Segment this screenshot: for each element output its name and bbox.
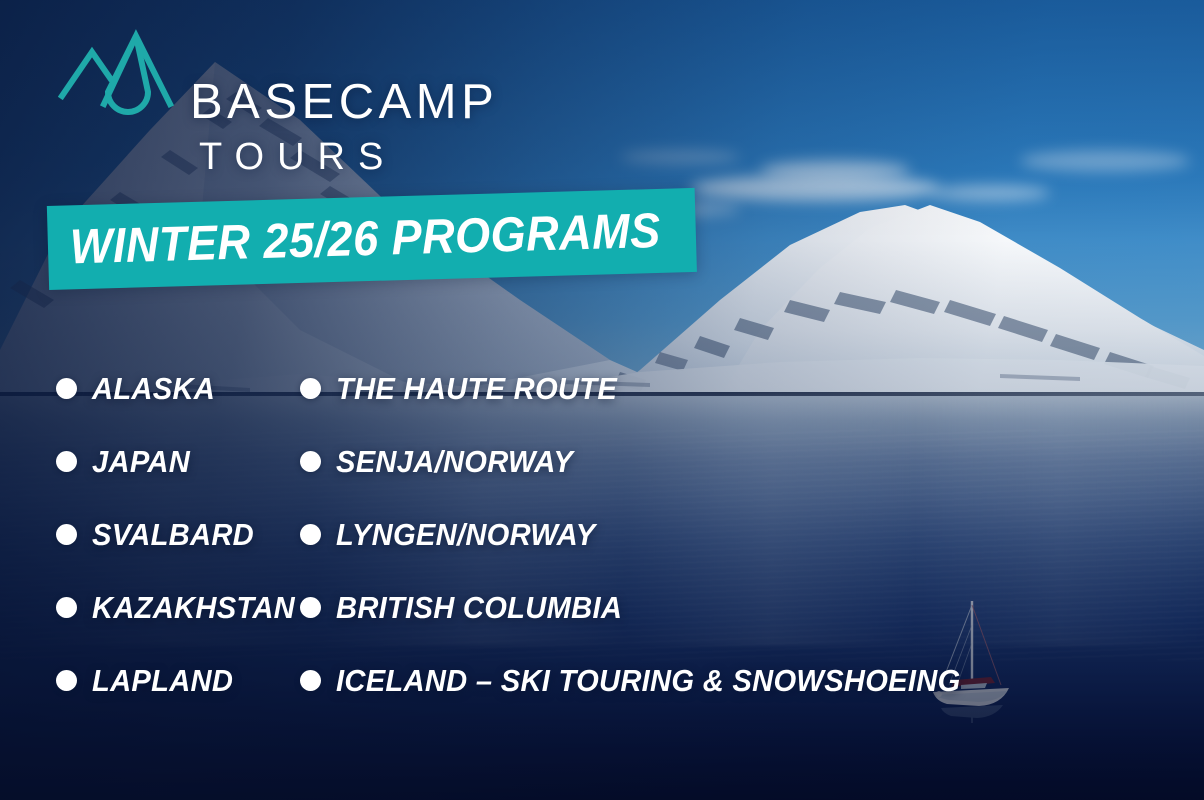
bullet-icon xyxy=(56,524,77,545)
destination-label: LAPLAND xyxy=(92,665,233,696)
list-item[interactable]: JAPAN xyxy=(56,425,308,498)
bullet-icon xyxy=(56,451,77,472)
bullet-icon xyxy=(56,670,77,691)
destination-label: LYNGEN/NORWAY xyxy=(336,519,595,550)
list-item[interactable]: ALASKA xyxy=(56,352,308,425)
poster: BASECAMP TOURS WINTER 25/26 PROGRAMS ALA… xyxy=(0,0,1204,800)
bullet-icon xyxy=(300,597,321,618)
destination-label: SENJA/NORWAY xyxy=(336,446,573,477)
destination-label: KAZAKHSTAN xyxy=(92,592,295,623)
destination-lists: ALASKA JAPAN SVALBARD KAZAKHSTAN LAPLAND xyxy=(0,0,1204,800)
list-item[interactable]: BRITISH COLUMBIA xyxy=(300,571,1000,644)
bullet-icon xyxy=(300,524,321,545)
list-item[interactable]: LYNGEN/NORWAY xyxy=(300,498,1000,571)
list-item[interactable]: SVALBARD xyxy=(56,498,308,571)
bullet-icon xyxy=(56,378,77,399)
bullet-icon xyxy=(300,670,321,691)
destination-column-right: THE HAUTE ROUTE SENJA/NORWAY LYNGEN/NORW… xyxy=(300,352,1000,717)
list-item[interactable]: ICELAND – SKI TOURING & SNOWSHOEING xyxy=(300,644,1000,717)
destination-label: THE HAUTE ROUTE xyxy=(336,373,617,404)
destination-column-left: ALASKA JAPAN SVALBARD KAZAKHSTAN LAPLAND xyxy=(56,352,308,717)
destination-label: BRITISH COLUMBIA xyxy=(336,592,622,623)
list-item[interactable]: KAZAKHSTAN xyxy=(56,571,308,644)
list-item[interactable]: LAPLAND xyxy=(56,644,308,717)
list-item[interactable]: SENJA/NORWAY xyxy=(300,425,1000,498)
destination-label: JAPAN xyxy=(92,446,190,477)
destination-label: ALASKA xyxy=(92,373,215,404)
bullet-icon xyxy=(300,378,321,399)
bullet-icon xyxy=(300,451,321,472)
destination-label: SVALBARD xyxy=(92,519,254,550)
bullet-icon xyxy=(56,597,77,618)
destination-label: ICELAND – SKI TOURING & SNOWSHOEING xyxy=(336,665,961,696)
list-item[interactable]: THE HAUTE ROUTE xyxy=(300,352,1000,425)
